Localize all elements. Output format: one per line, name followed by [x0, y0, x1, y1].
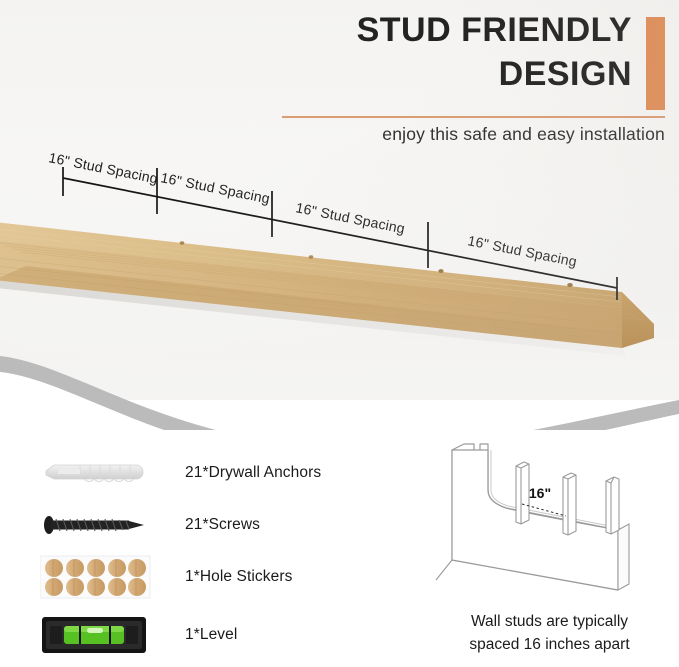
spacing-label-4: 16" Stud Spacing — [466, 232, 578, 269]
level-icon — [40, 612, 166, 658]
stud — [606, 477, 619, 534]
bottom-section: 21*Drywall Anchors — [0, 430, 679, 667]
part-row: 21*Screws — [0, 502, 400, 548]
infographic-canvas: STUD FRIENDLY DESIGN enjoy this safe and… — [0, 0, 679, 667]
screw-icon — [40, 502, 166, 548]
part-row: 1*Level — [0, 612, 400, 658]
part-label: 21*Screws — [185, 516, 260, 534]
stud-dimension-label: 16" — [529, 485, 551, 501]
drywall-anchor-icon — [40, 450, 166, 496]
stud-diagram-caption: Wall studs are typically spaced 16 inche… — [420, 610, 679, 656]
part-label: 1*Hole Stickers — [185, 568, 292, 586]
stud — [516, 462, 529, 524]
part-label: 21*Drywall Anchors — [185, 464, 321, 482]
parts-list: 21*Drywall Anchors — [0, 430, 400, 667]
caption-line-2: spaced 16 inches apart — [420, 633, 679, 656]
part-row: 1*Hole Stickers — [0, 554, 400, 600]
part-row: 21*Drywall Anchors — [0, 450, 400, 496]
hole-stickers-icon — [40, 554, 166, 600]
wall-stud-diagram: 16" — [430, 438, 679, 608]
spacing-label-1: 16" Stud Spacing — [47, 149, 159, 186]
stud — [563, 473, 576, 535]
part-label: 1*Level — [185, 626, 237, 644]
spacing-label-3: 16" Stud Spacing — [294, 199, 406, 236]
measure-line — [63, 178, 617, 288]
caption-line-1: Wall studs are typically — [420, 610, 679, 633]
